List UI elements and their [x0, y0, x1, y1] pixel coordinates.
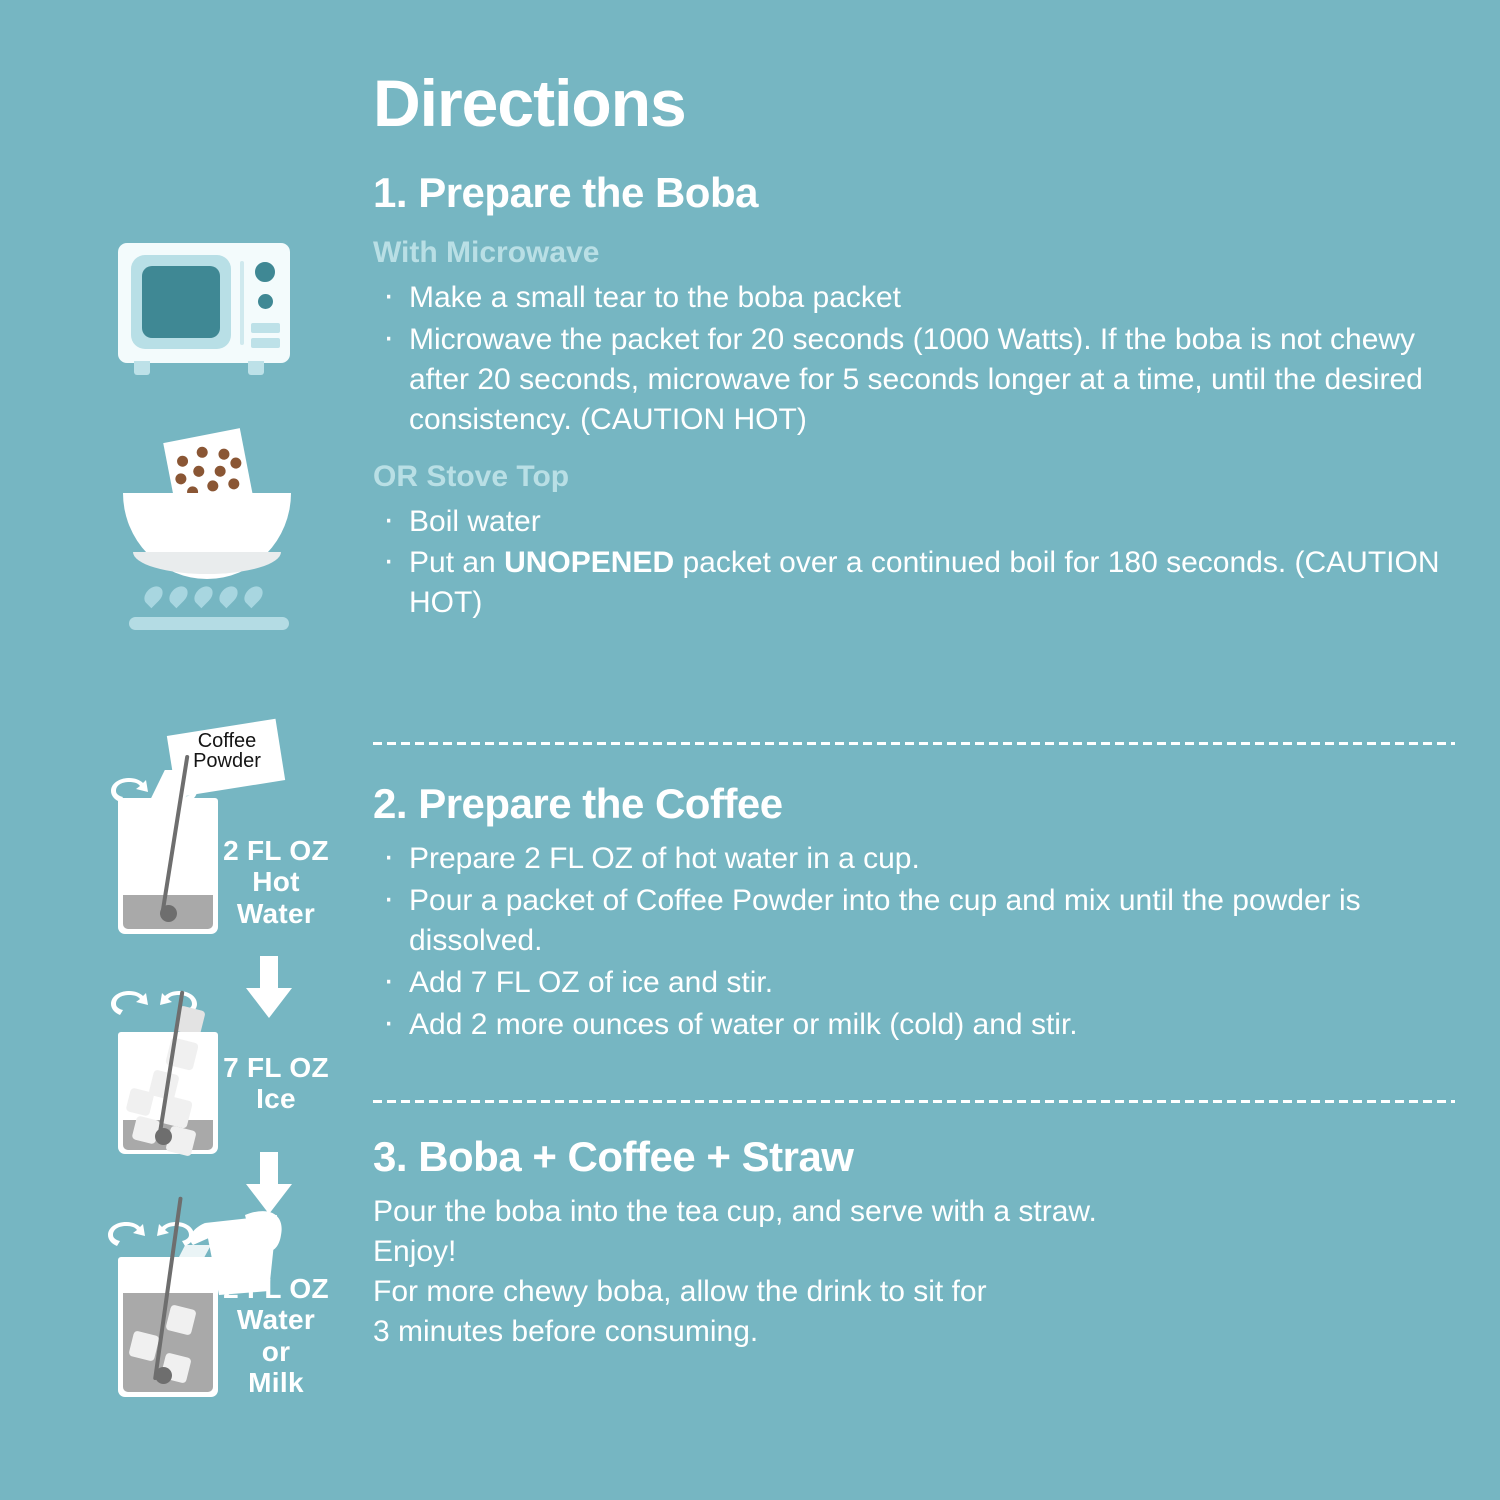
bullet-text-pre: Put an — [409, 546, 504, 579]
list-item: Put an UNOPENED packet over a continued … — [373, 543, 1463, 623]
microwave-button-bar-1 — [251, 323, 280, 333]
paragraph-line: 3 minutes before consuming. — [373, 1312, 1463, 1352]
ice-quantity-label: 7 FL OZ Ice — [201, 1052, 351, 1115]
stirrer-knob — [155, 1367, 172, 1384]
glass-water-or-milk-icon: 2 FL OZ Water or Milk — [105, 1185, 350, 1400]
section-divider-2 — [373, 1100, 1455, 1103]
bowl-shadow — [133, 552, 281, 574]
bullet-text-bold: UNOPENED — [504, 546, 674, 579]
qty-line1: Hot — [201, 866, 351, 897]
bowl-on-stove-icon — [115, 430, 305, 630]
list-item: Add 7 FL OZ of ice and stir. — [373, 963, 1463, 1003]
step-1-sub-microwave-heading: With Microwave — [373, 238, 1463, 268]
list-item: Prepare 2 FL OZ of hot water in a cup. — [373, 839, 1463, 879]
step-2-heading: 2. Prepare the Coffee — [373, 783, 1463, 825]
microwave-icon — [118, 243, 290, 375]
list-item: Add 2 more ounces of water or milk (cold… — [373, 1005, 1463, 1045]
list-item: Boil water — [373, 502, 1463, 542]
qty-line1: Ice — [201, 1083, 351, 1114]
qty-amount: 7 FL OZ — [201, 1052, 351, 1083]
section-step-1: 1. Prepare the Boba With Microwave Make … — [373, 172, 1463, 625]
hot-water-quantity-label: 2 FL OZ Hot Water — [201, 835, 351, 929]
section-step-3: 3. Boba + Coffee + Straw Pour the boba i… — [373, 1136, 1463, 1352]
coffee-powder-line2: Powder — [175, 751, 279, 771]
step-1-heading: 1. Prepare the Boba — [373, 172, 1463, 214]
flame-droplet — [216, 583, 241, 608]
directions-infographic: Coffee Powder 2 FL OZ Hot Water — [0, 0, 1500, 1500]
stove-burner — [129, 617, 289, 630]
glass-ice-icon: 7 FL OZ Ice — [105, 980, 350, 1155]
microwave-knob-upper — [252, 259, 278, 285]
qty-amount: 2 FL OZ — [201, 1273, 351, 1304]
qty-line1: Water — [201, 1304, 351, 1335]
coffee-powder-label: Coffee Powder — [175, 731, 279, 772]
microwave-window — [142, 266, 220, 338]
microwave-leg-left — [134, 361, 150, 375]
list-item: Pour a packet of Coffee Powder into the … — [373, 881, 1463, 961]
microwave-divider — [240, 261, 244, 345]
microwave-knob-lower — [255, 291, 276, 312]
paragraph-line: Enjoy! — [373, 1232, 1463, 1272]
step-3-paragraphs: Pour the boba into the tea cup, and serv… — [373, 1192, 1463, 1352]
stir-arrows-icon — [107, 1221, 195, 1251]
qty-amount: 2 FL OZ — [201, 835, 351, 866]
section-step-2: 2. Prepare the Coffee Prepare 2 FL OZ of… — [373, 783, 1463, 1046]
stirrer-knob — [160, 905, 177, 922]
coffee-powder-line1: Coffee — [175, 731, 279, 751]
step-2-bullets: Prepare 2 FL OZ of hot water in a cup. P… — [373, 839, 1463, 1044]
step-1-sub-stove-heading: OR Stove Top — [373, 462, 1463, 492]
paragraph-line: Pour the boba into the tea cup, and serv… — [373, 1192, 1463, 1232]
list-item: Make a small tear to the boba packet — [373, 278, 1463, 318]
flame-droplet — [241, 583, 266, 608]
qty-line2: or — [201, 1336, 351, 1367]
paragraph-line: For more chewy boba, allow the drink to … — [373, 1272, 1463, 1312]
step-1-stove-bullets: Boil water Put an UNOPENED packet over a… — [373, 502, 1463, 624]
microwave-leg-right — [248, 361, 264, 375]
flame-droplet — [166, 583, 191, 608]
list-item: Microwave the packet for 20 seconds (100… — [373, 320, 1463, 440]
step-3-heading: 3. Boba + Coffee + Straw — [373, 1136, 1463, 1178]
flame-droplet — [141, 583, 166, 608]
qty-line3: Milk — [201, 1367, 351, 1398]
microwave-button-bar-2 — [251, 338, 280, 348]
icon-column: Coffee Powder 2 FL OZ Hot Water — [0, 0, 360, 1500]
water-milk-quantity-label: 2 FL OZ Water or Milk — [201, 1273, 351, 1398]
flame-droplet — [191, 583, 216, 608]
glass-hot-water-icon: Coffee Powder 2 FL OZ Hot Water — [105, 725, 350, 940]
step-1-microwave-bullets: Make a small tear to the boba packet Mic… — [373, 278, 1463, 440]
page-title: Directions — [373, 70, 686, 136]
qty-line2: Water — [201, 898, 351, 929]
section-divider-1 — [373, 742, 1455, 745]
stirrer-knob — [155, 1128, 172, 1145]
